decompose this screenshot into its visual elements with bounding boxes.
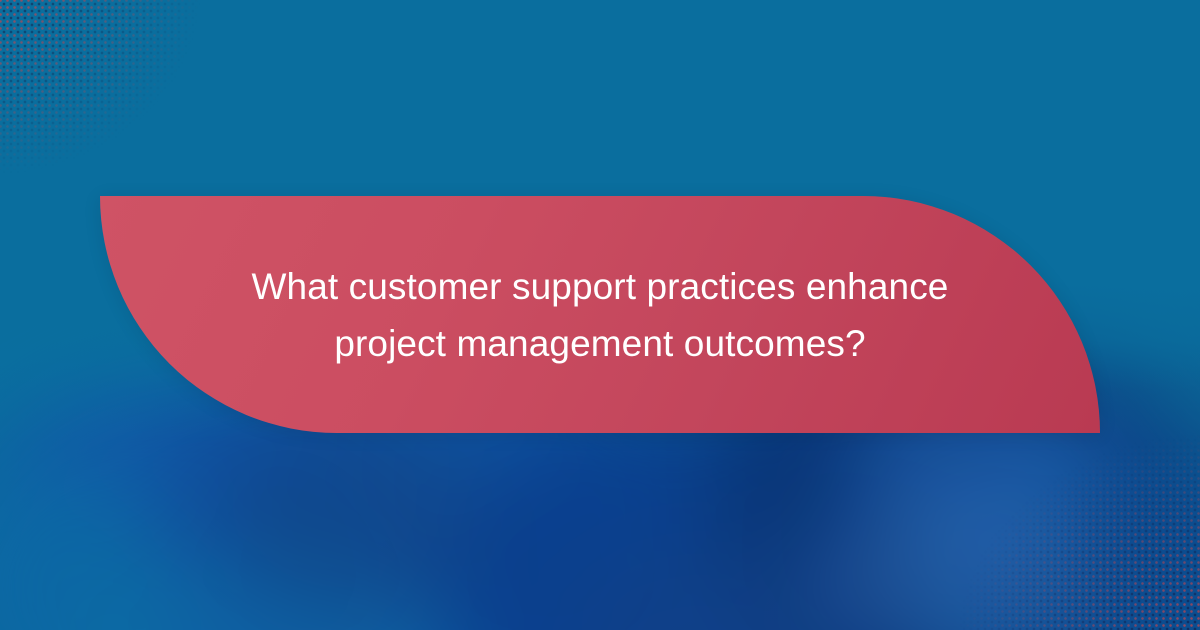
background-blob [220,420,480,620]
question-text: What customer support practices enhance … [220,258,980,372]
share-card-canvas: What customer support practices enhance … [0,0,1200,630]
question-banner: What customer support practices enhance … [100,196,1100,433]
